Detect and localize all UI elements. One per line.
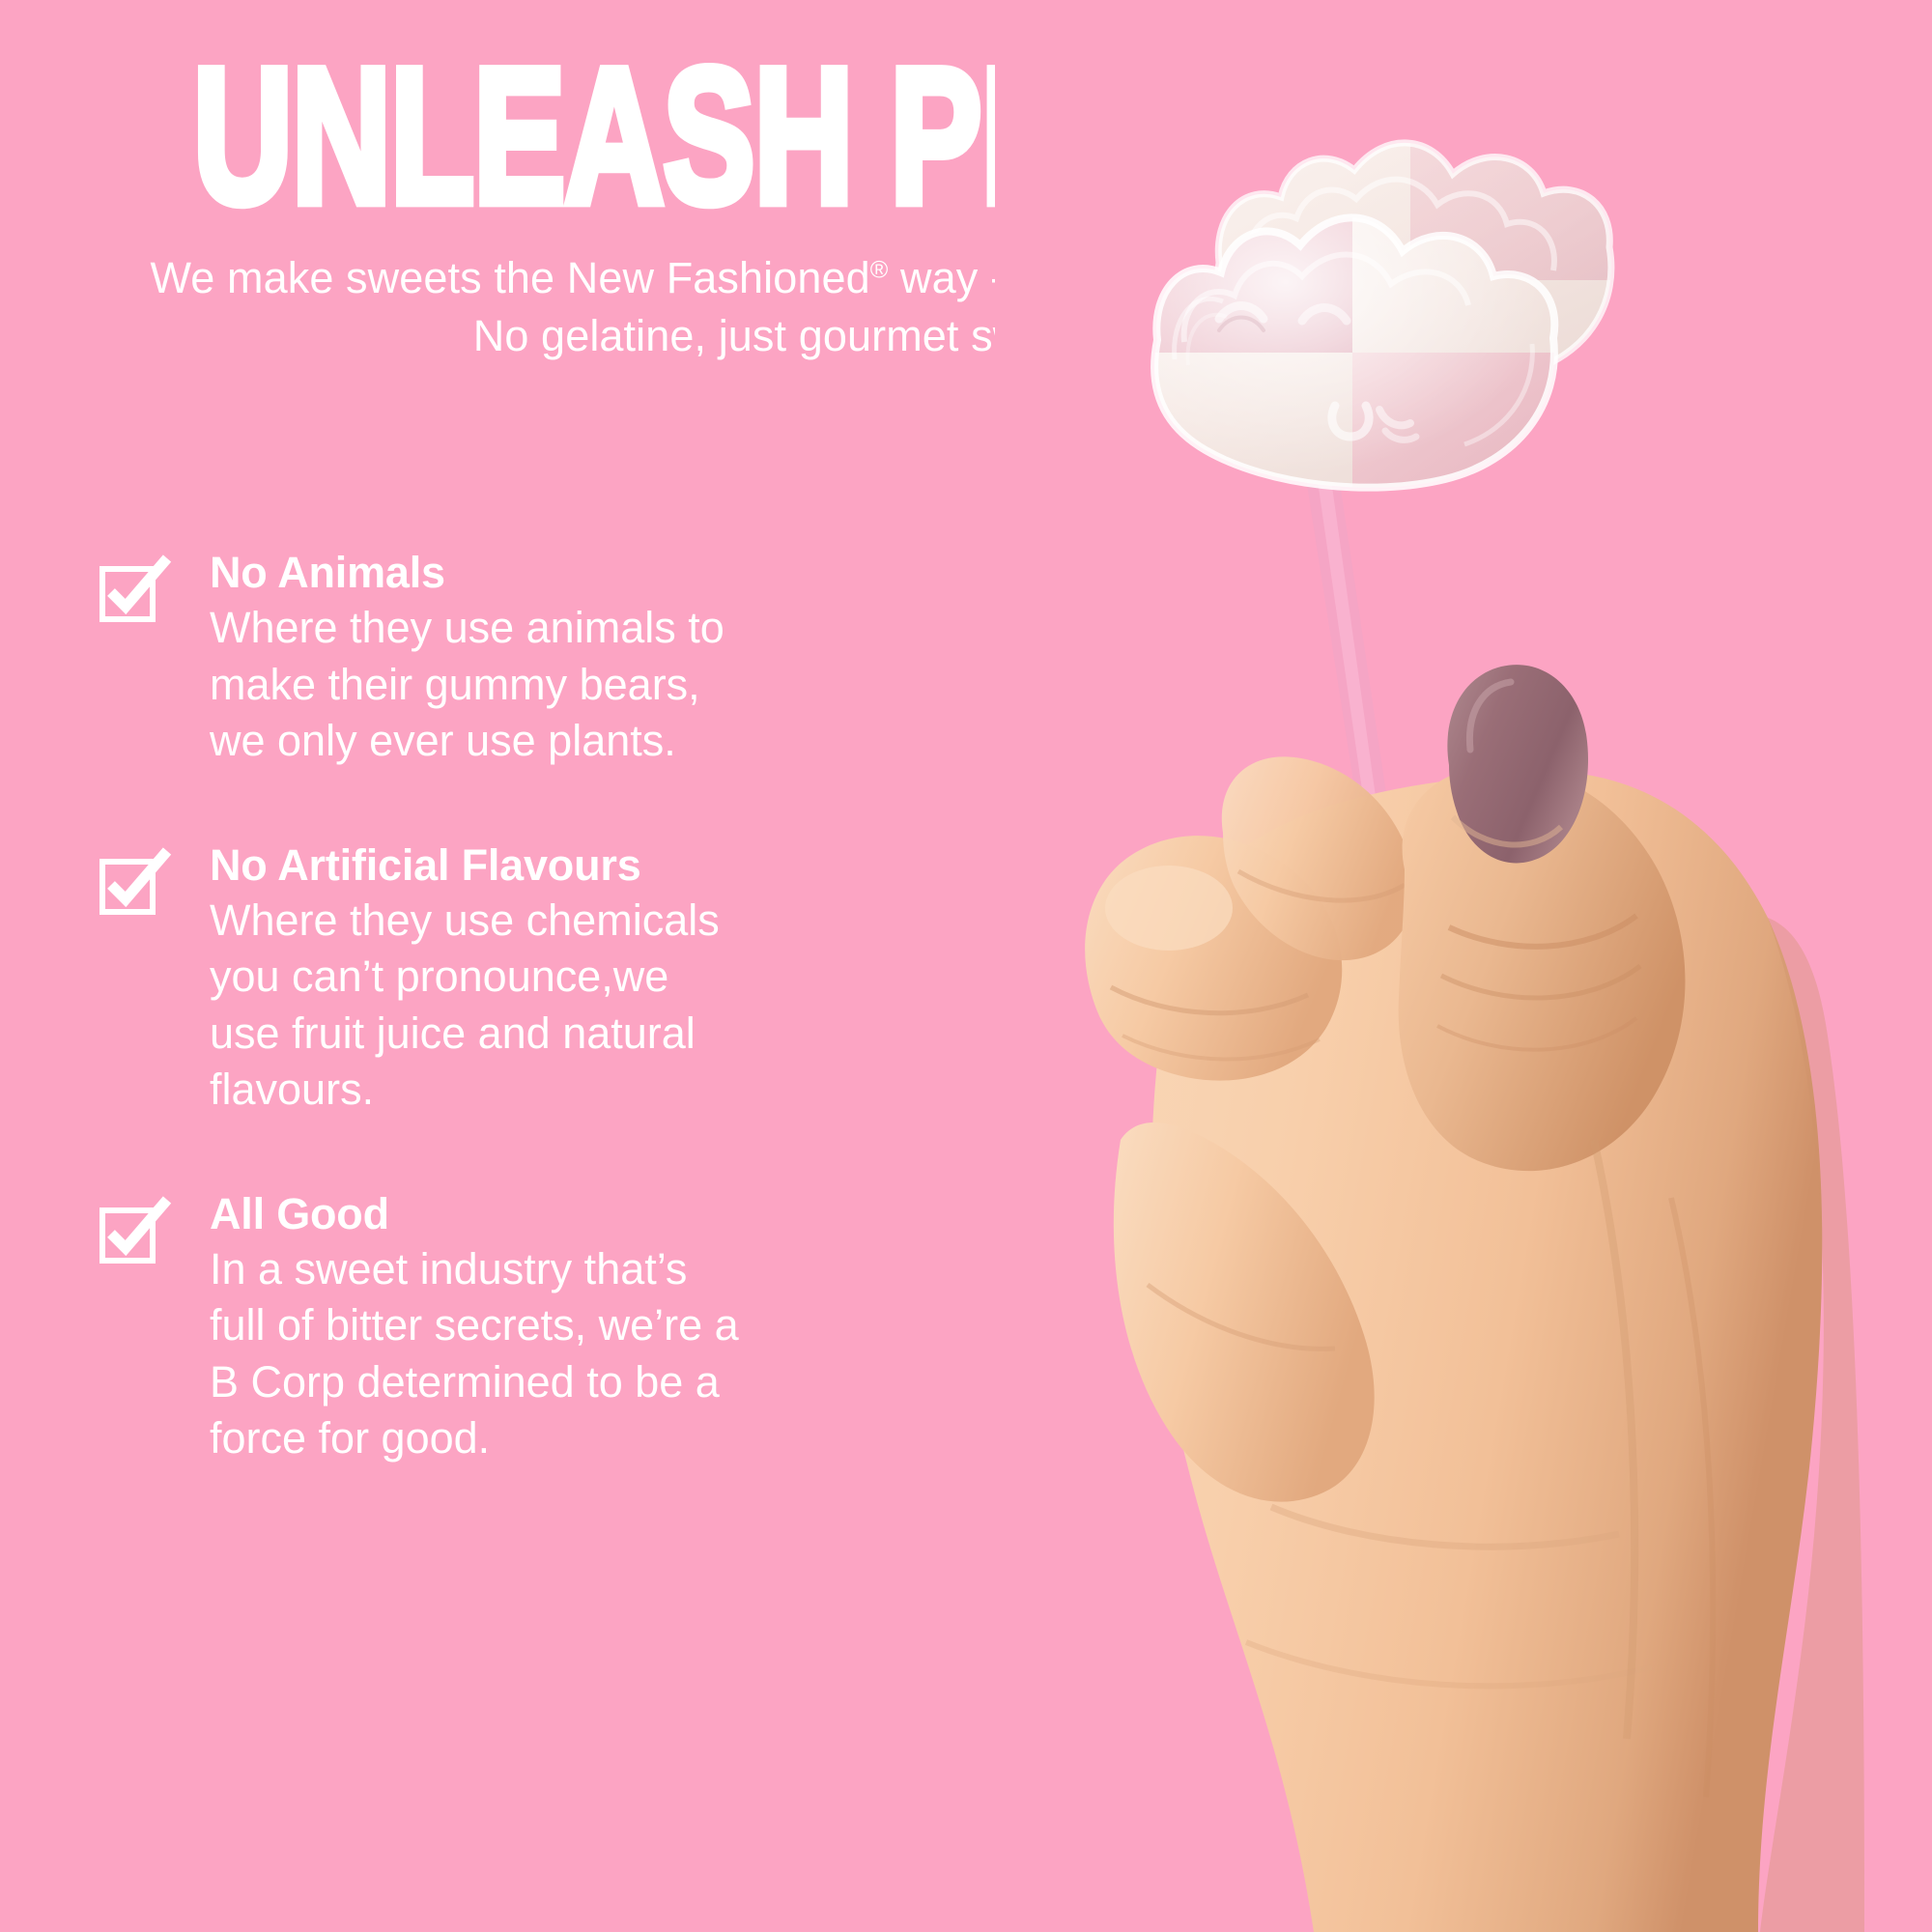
feature-list: No Animals Where they use animals to mak… xyxy=(97,547,966,1467)
feature-body: In a sweet industry that’s full of bitte… xyxy=(210,1241,966,1467)
feature-title: No Animals xyxy=(210,547,966,598)
feature-item-all-good: All Good In a sweet industry that’s full… xyxy=(97,1188,966,1467)
checkbox-checked-icon xyxy=(99,1202,161,1264)
product-photo-hand-holding-gummy xyxy=(995,0,1932,1932)
checkbox-checked-icon xyxy=(99,853,161,915)
feature-body: Where they use animals to make their gum… xyxy=(210,600,966,770)
feature-item-no-animals: No Animals Where they use animals to mak… xyxy=(97,547,966,770)
feature-item-no-artificial-flavours: No Artificial Flavours Where they use ch… xyxy=(97,839,966,1119)
feature-title: No Artificial Flavours xyxy=(210,839,966,891)
subheading-line-1-pre: We make sweets the New Fashioned xyxy=(151,253,870,302)
feature-title: All Good xyxy=(210,1188,966,1239)
checkbox-checked-icon xyxy=(99,560,161,622)
feature-body: Where they use chemicals you can’t prono… xyxy=(210,893,966,1119)
poster-canvas: UNLEASH PLANT POWER We make sweets the N… xyxy=(0,0,1932,1932)
registered-trademark-icon: ® xyxy=(870,256,889,283)
